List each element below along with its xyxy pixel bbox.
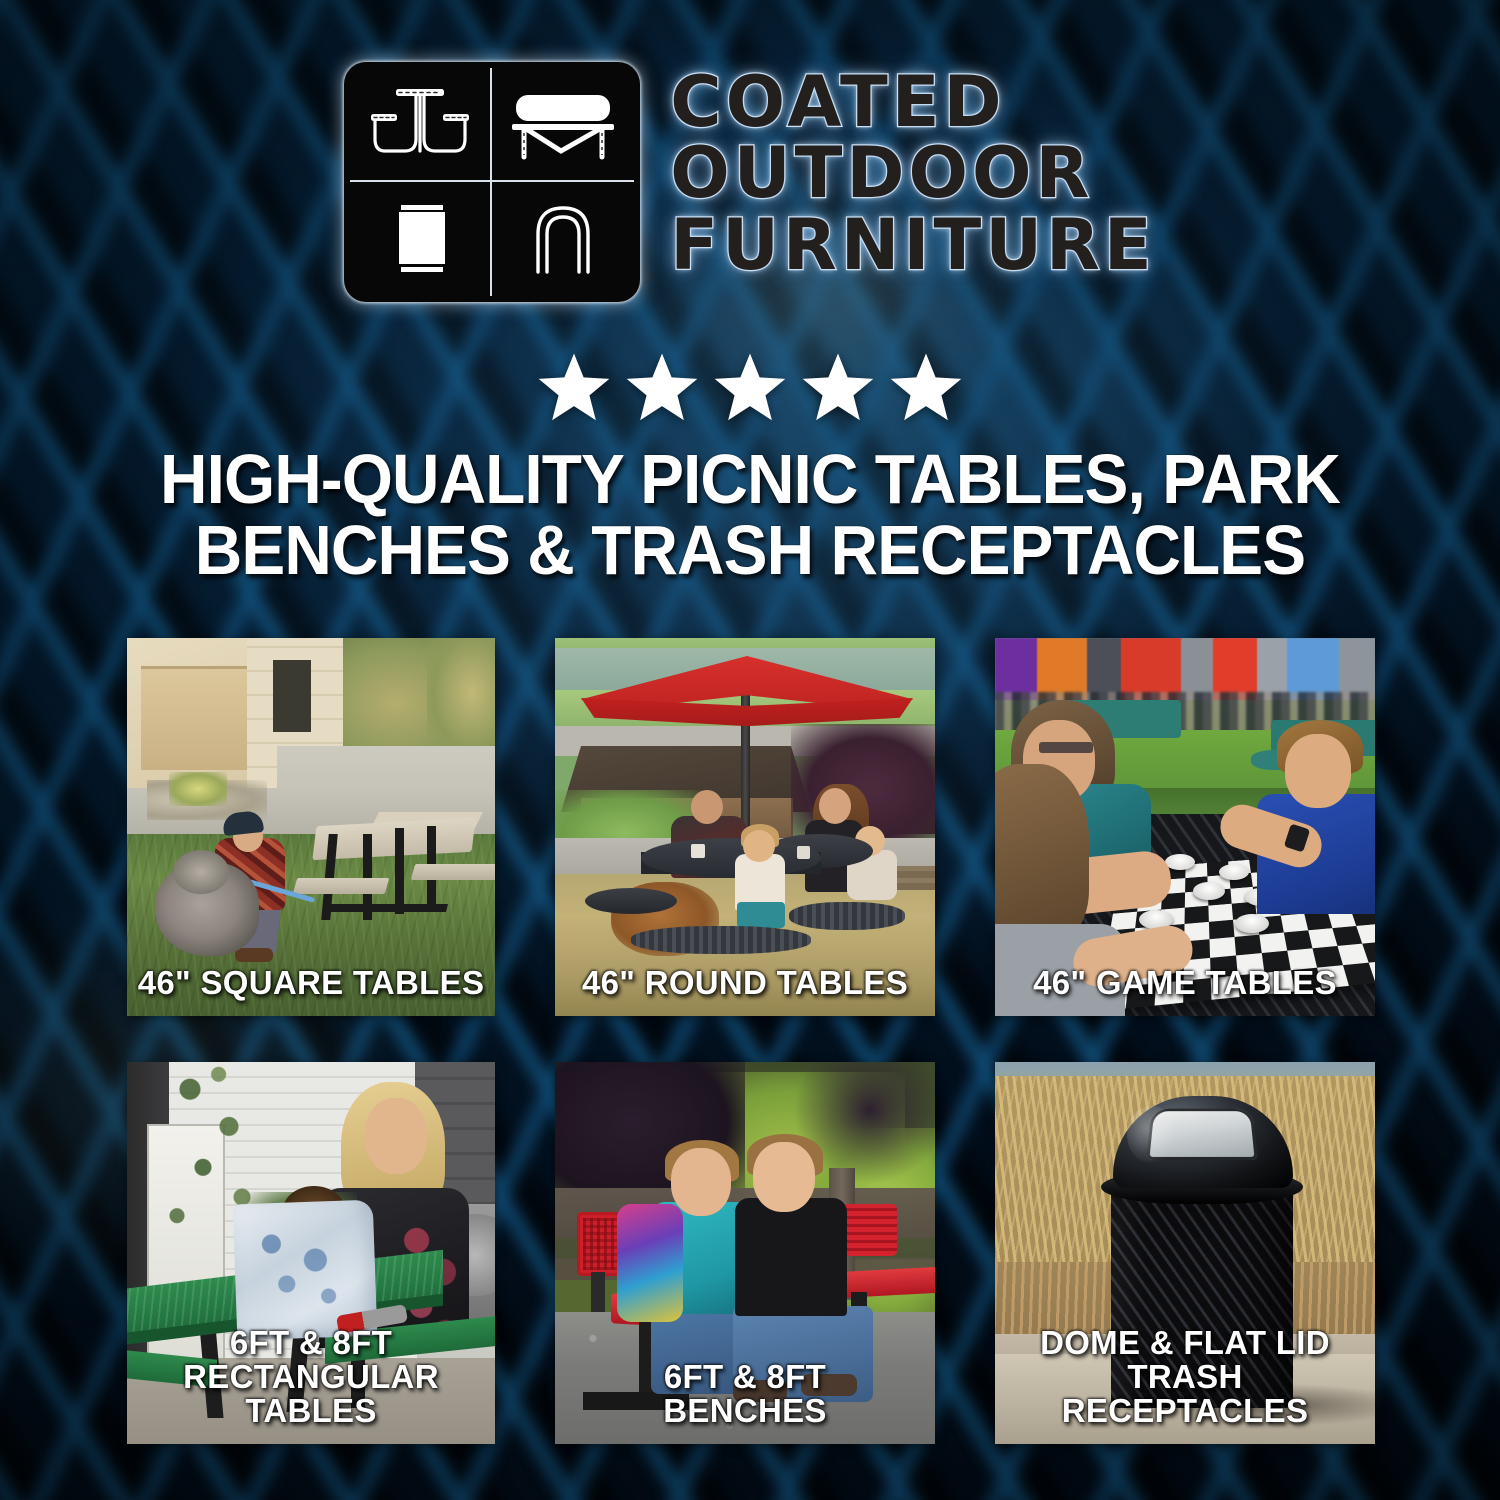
product-photo-round-tables xyxy=(555,638,935,1016)
poster-content: COATED OUTDOOR FURNITURE HIGH-QUALITY PI… xyxy=(0,0,1500,1500)
product-photo-square-tables xyxy=(127,638,495,1016)
star-icon xyxy=(625,352,699,422)
park-bench-icon xyxy=(492,68,634,182)
product-caption: 6FT & 8FT RECTANGULAR TABLES xyxy=(127,1326,495,1428)
caption-line: RECTANGULAR TABLES xyxy=(133,1360,489,1428)
headline-line-2: BENCHES & TRASH RECEPTACLES xyxy=(120,515,1380,586)
caption-line: BENCHES xyxy=(561,1394,929,1428)
star-icon xyxy=(713,352,787,422)
product-caption: 46" SQUARE TABLES xyxy=(127,966,495,1000)
caption-line: 46" ROUND TABLES xyxy=(561,966,929,1000)
product-grid: 46" SQUARE TABLES xyxy=(127,638,1375,1444)
brand-line-2: OUTDOOR xyxy=(670,139,1156,208)
brand-logo-mark xyxy=(344,62,640,302)
brand-line-3: FURNITURE xyxy=(670,211,1156,280)
product-caption: 46" ROUND TABLES xyxy=(555,966,935,1000)
caption-line: 46" SQUARE TABLES xyxy=(133,966,489,1000)
brand-header: COATED OUTDOOR FURNITURE xyxy=(0,62,1500,302)
product-caption: DOME & FLAT LID TRASH RECEPTACLES xyxy=(995,1326,1375,1428)
page-title: HIGH-QUALITY PICNIC TABLES, PARK BENCHES… xyxy=(80,444,1420,587)
star-icon xyxy=(537,352,611,422)
product-tile-rectangular-tables[interactable]: 6FT & 8FT RECTANGULAR TABLES xyxy=(127,1062,495,1444)
promotional-poster: COATED OUTDOOR FURNITURE HIGH-QUALITY PI… xyxy=(0,0,1500,1500)
flat-lid-trash-receptacle-icon xyxy=(350,182,492,296)
product-tile-trash-receptacles[interactable]: DOME & FLAT LID TRASH RECEPTACLES xyxy=(995,1062,1375,1444)
brand-line-1: COATED xyxy=(670,68,1156,137)
product-tile-benches[interactable]: 6FT & 8FT BENCHES xyxy=(555,1062,935,1444)
dome-lid-trash-receptacle-icon xyxy=(492,182,634,296)
star-icon xyxy=(801,352,875,422)
product-caption: 6FT & 8FT BENCHES xyxy=(555,1360,935,1428)
caption-line: 6FT & 8FT xyxy=(561,1360,929,1394)
product-tile-game-tables[interactable]: 46" GAME TABLES xyxy=(995,638,1375,1016)
caption-line: 46" GAME TABLES xyxy=(1001,966,1369,1000)
caption-line: 6FT & 8FT xyxy=(133,1326,489,1360)
product-tile-round-tables[interactable]: 46" ROUND TABLES xyxy=(555,638,935,1016)
product-tile-square-tables[interactable]: 46" SQUARE TABLES xyxy=(127,638,495,1016)
headline-line-1: HIGH-QUALITY PICNIC TABLES, PARK xyxy=(120,444,1380,515)
caption-line: DOME & FLAT LID xyxy=(1001,1326,1369,1360)
picnic-table-icon xyxy=(350,68,492,182)
star-rating xyxy=(0,352,1500,422)
product-photo-game-tables xyxy=(995,638,1375,1016)
caption-line: TRASH RECEPTACLES xyxy=(1001,1360,1369,1428)
product-caption: 46" GAME TABLES xyxy=(995,966,1375,1000)
star-icon xyxy=(889,352,963,422)
brand-wordmark: COATED OUTDOOR FURNITURE xyxy=(670,62,1156,280)
